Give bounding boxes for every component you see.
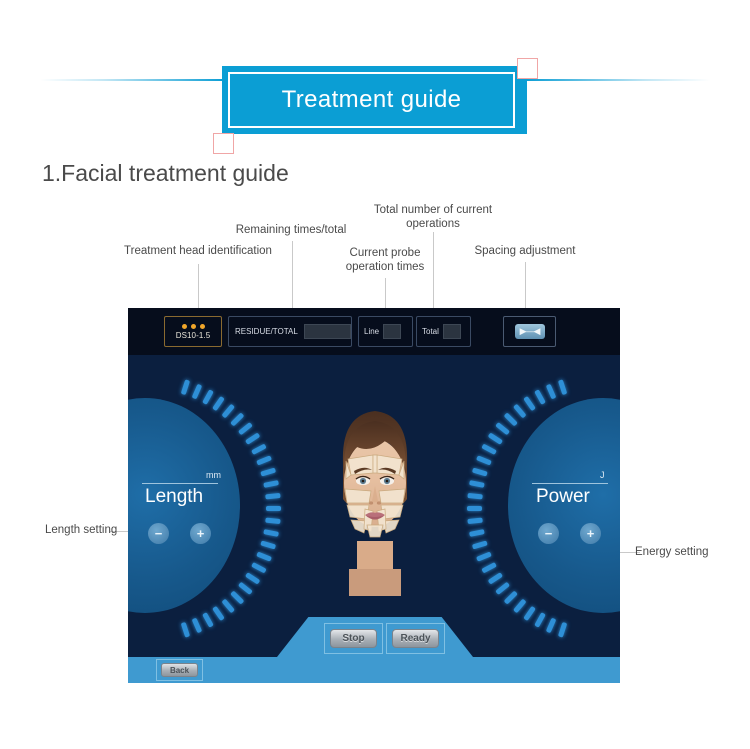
dial-tick — [221, 404, 234, 419]
dial-tick — [263, 480, 279, 488]
dial-tick — [472, 468, 488, 477]
dial-tick — [192, 384, 203, 400]
dial-tick — [558, 379, 567, 395]
dial-tick — [181, 622, 190, 638]
dial-tick — [467, 506, 482, 511]
header-rule-right — [525, 79, 710, 81]
total-value[interactable] — [443, 324, 461, 339]
dial-tick — [265, 518, 280, 524]
leader-remaining-times — [292, 241, 293, 308]
section-title: 1.Facial treatment guide — [42, 160, 289, 187]
dial-tick — [481, 562, 497, 573]
dial-tick — [256, 551, 272, 561]
ready-button-frame[interactable]: Ready — [386, 623, 445, 654]
dial-tick — [534, 612, 546, 628]
length-divider — [142, 483, 218, 484]
dial-tick — [476, 455, 492, 465]
power-label: Power — [536, 486, 590, 508]
page-header: Treatment guide — [0, 28, 750, 134]
length-decrease-button[interactable]: − — [148, 523, 169, 544]
dial-tick — [192, 618, 203, 634]
dial-tick — [202, 612, 214, 628]
callout-treatment-head: Treatment head identification — [118, 244, 278, 258]
dial-tick — [495, 582, 510, 595]
treatment-head-id: DS10-1.5 — [176, 331, 211, 340]
callout-remaining-times: Remaining times/total — [228, 223, 354, 237]
page-title: Treatment guide — [282, 86, 462, 114]
dial-tick — [488, 432, 503, 444]
device-screen: DS10-1.5 RESIDUE/TOTAL Line Total ▶—◀ mm… — [128, 308, 620, 683]
leader-treatment-head — [198, 264, 199, 308]
dial-tick — [472, 540, 488, 549]
total-label: Total — [422, 327, 439, 336]
back-button-frame[interactable]: Back — [156, 659, 203, 681]
dial-tick — [558, 622, 567, 638]
residue-total-field[interactable]: RESIDUE/TOTAL — [228, 316, 352, 347]
callout-length-setting: Length setting — [45, 524, 117, 536]
power-unit: J — [600, 470, 605, 480]
dial-tick — [260, 540, 276, 549]
residue-total-value[interactable] — [304, 324, 351, 339]
callout-current-probe: Current probe operation times — [339, 246, 431, 274]
dial-tick — [256, 455, 272, 465]
length-unit: mm — [206, 470, 221, 480]
dial-tick — [251, 444, 267, 455]
dial-tick — [504, 591, 518, 605]
length-increase-button[interactable]: + — [190, 523, 211, 544]
dial-tick — [523, 606, 536, 621]
line-value[interactable] — [383, 324, 401, 339]
back-button[interactable]: Back — [161, 663, 198, 677]
leader-total-operations — [433, 232, 434, 308]
power-increase-button[interactable]: + — [580, 523, 601, 544]
dial-tick — [467, 493, 482, 499]
dial-tick — [238, 582, 253, 595]
dial-tick — [481, 444, 497, 455]
residue-total-label: RESIDUE/TOTAL — [235, 327, 298, 336]
dial-tick — [245, 572, 260, 584]
dial-tick — [469, 529, 485, 537]
dial-tick — [230, 412, 244, 426]
dial-tick — [513, 599, 526, 614]
leader-spacing-adjustment — [525, 262, 526, 308]
dial-tick — [523, 396, 536, 411]
dial-tick — [266, 506, 281, 511]
status-dot-1 — [182, 324, 187, 329]
callout-energy-setting: Energy setting — [635, 546, 709, 558]
dial-tick — [245, 432, 260, 444]
facial-treatment-zones-diagram[interactable] — [327, 391, 423, 596]
dial-tick — [467, 518, 482, 524]
dial-tick — [546, 618, 557, 634]
spacing-adjust-button[interactable]: ▶—◀ — [503, 316, 556, 347]
line-counter-field[interactable]: Line — [358, 316, 413, 347]
dial-tick — [260, 468, 276, 477]
power-decrease-button[interactable]: − — [538, 523, 559, 544]
dial-tick — [504, 412, 518, 426]
callout-total-operations: Total number of current operations — [367, 203, 499, 231]
length-label: Length — [145, 486, 203, 508]
dial-tick — [488, 572, 503, 584]
dial-tick — [202, 389, 214, 405]
treatment-head-indicator[interactable]: DS10-1.5 — [164, 316, 222, 347]
dial-tick — [534, 389, 546, 405]
header-banner-inner: Treatment guide — [228, 72, 515, 128]
stop-button[interactable]: Stop — [330, 629, 377, 648]
dial-tick — [181, 379, 190, 395]
dial-tick — [212, 606, 225, 621]
callout-spacing-adjustment: Spacing adjustment — [469, 244, 581, 258]
header-accent-square-top-right — [517, 58, 538, 79]
dial-tick — [251, 562, 267, 573]
dial-tick — [212, 396, 225, 411]
header-rule-left — [40, 79, 225, 81]
spacing-adjust-icon: ▶—◀ — [515, 324, 545, 339]
head-status-dots — [182, 324, 205, 329]
device-toolbar: DS10-1.5 RESIDUE/TOTAL Line Total ▶—◀ — [128, 308, 620, 355]
dial-tick — [230, 591, 244, 605]
dial-tick — [546, 384, 557, 400]
dial-tick — [469, 480, 485, 488]
dial-tick — [238, 422, 253, 435]
power-divider — [532, 483, 608, 484]
total-counter-field[interactable]: Total — [416, 316, 471, 347]
ready-button[interactable]: Ready — [392, 629, 439, 648]
stop-button-frame[interactable]: Stop — [324, 623, 383, 654]
dial-tick — [221, 599, 234, 614]
leader-current-probe — [385, 278, 386, 308]
dial-tick — [476, 551, 492, 561]
status-dot-2 — [191, 324, 196, 329]
dial-tick — [265, 493, 280, 499]
header-accent-square-bottom-left — [213, 133, 234, 154]
dial-tick — [495, 422, 510, 435]
line-label: Line — [364, 327, 379, 336]
dial-tick — [263, 529, 279, 537]
dial-tick — [513, 404, 526, 419]
status-dot-3 — [200, 324, 205, 329]
